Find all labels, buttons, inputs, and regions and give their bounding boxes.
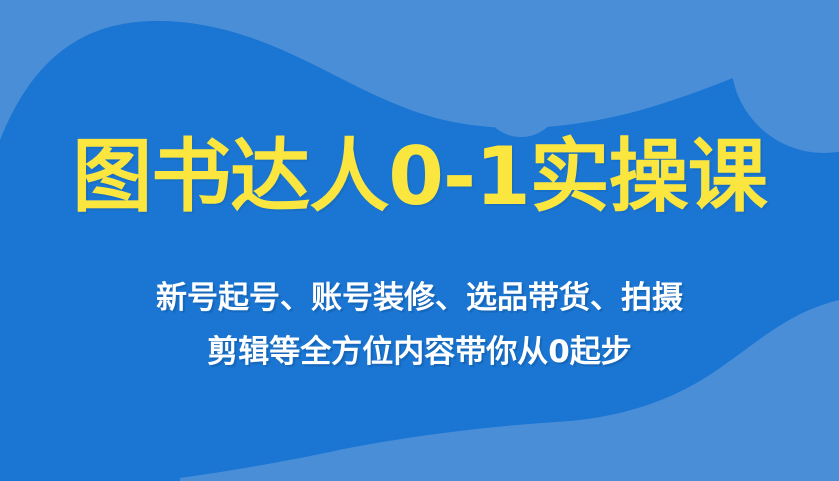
subtitle-line-2: 剪辑等全方位内容带你从0起步 xyxy=(70,325,770,379)
banner-content: 图书达人0-1实操课 新号起号、账号装修、选品带货、拍摄 剪辑等全方位内容带你从… xyxy=(0,0,839,481)
course-subtitle: 新号起号、账号装修、选品带货、拍摄 剪辑等全方位内容带你从0起步 xyxy=(70,271,770,379)
page-title: 图书达人0-1实操课 xyxy=(0,131,839,223)
course-promo-banner: 图书达人0-1实操课 新号起号、账号装修、选品带货、拍摄 剪辑等全方位内容带你从… xyxy=(0,0,839,481)
subtitle-line-1: 新号起号、账号装修、选品带货、拍摄 xyxy=(70,271,770,325)
